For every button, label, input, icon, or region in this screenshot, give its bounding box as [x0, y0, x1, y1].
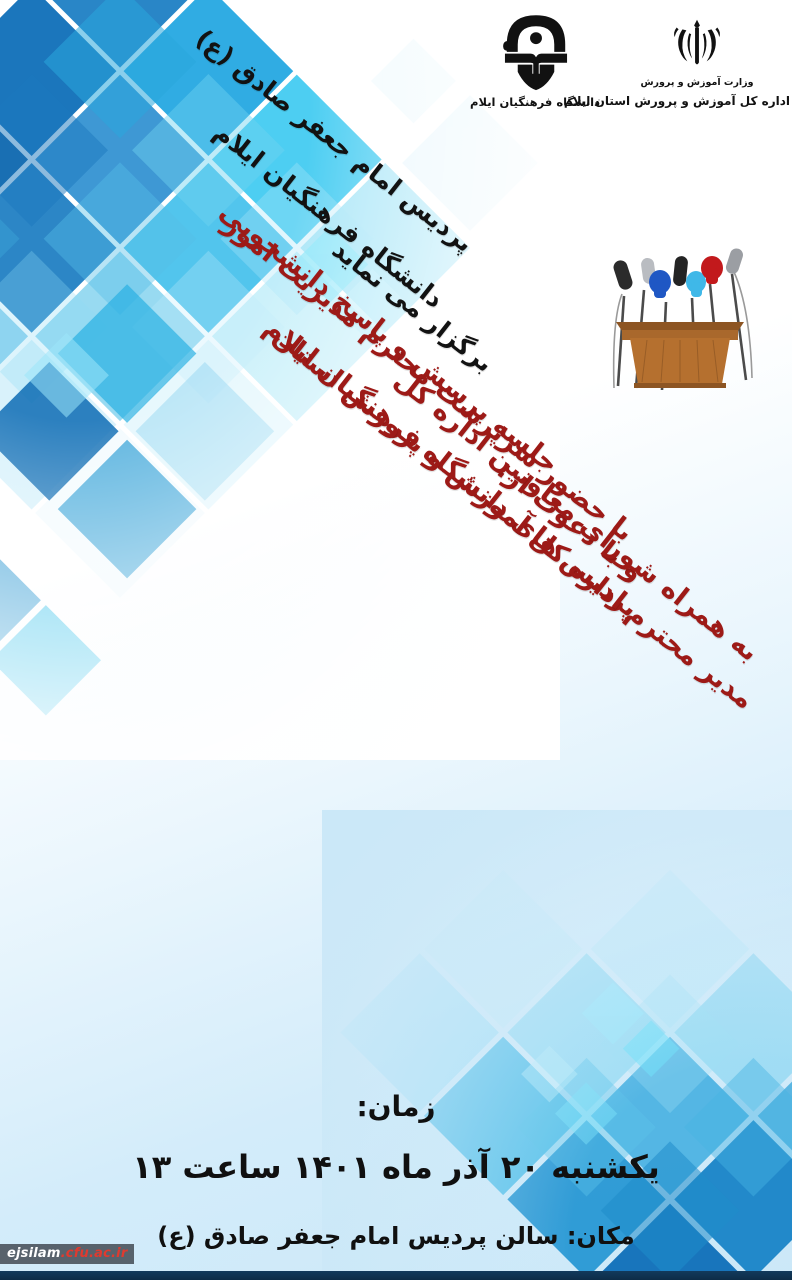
ministry-logo-caption-line1: وزارت آموزش و پرورش [604, 76, 790, 90]
ministry-logo-caption-line2: اداره کل آموزش و پرورش استان ایلام [604, 92, 790, 110]
podium-svg [592, 238, 768, 398]
iran-emblem-svg [666, 10, 728, 72]
podium-with-microphones-icon [592, 238, 768, 398]
iran-national-emblem-icon [666, 10, 728, 72]
poster-canvas: دانشگاه فرهنگیان ایلام وزارت آموزش و پرو… [0, 0, 792, 1280]
university-emblem-svg [490, 8, 582, 92]
bottom-accent-bar [0, 1271, 792, 1280]
site-watermark: ejsilam.cfu.ac.ir [0, 1244, 134, 1264]
pattern-fade-bottom-right [322, 810, 792, 1280]
farhangian-university-emblem-icon [490, 8, 582, 92]
watermark-name: ejsilam [7, 1246, 61, 1261]
time-label: زمان: [0, 1090, 792, 1123]
ministry-logo-block: وزارت آموزش و پرورش اداره کل آموزش و پرو… [604, 8, 790, 110]
watermark-domain: .cfu.ac.ir [61, 1246, 128, 1261]
date-value: یکشنبه ۲۰ آذر ماه ۱۴۰۱ ساعت ۱۳ [0, 1148, 792, 1186]
announcement-red-line-6: به همراه شورای معاونین اداره کل [430, 397, 764, 668]
announcement-red-line-5: مدیر محترم اداره کل آموزش و پرورش استان [386, 414, 760, 715]
poster-header: دانشگاه فرهنگیان ایلام وزارت آموزش و پرو… [0, 6, 792, 131]
